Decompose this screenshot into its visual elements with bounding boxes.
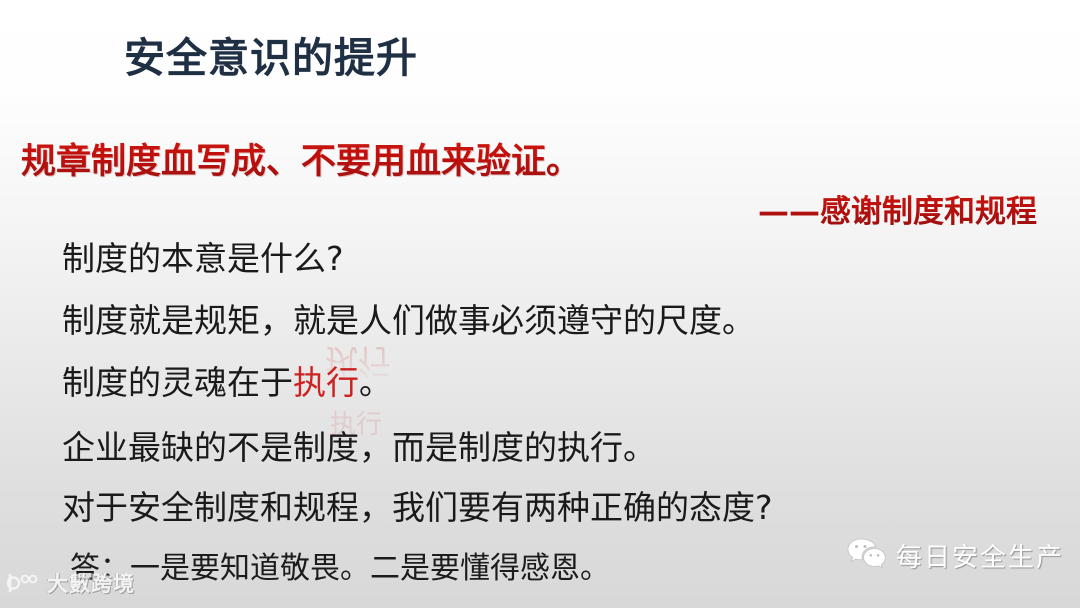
presentation-slide: 安全意识的提升 规章制度血写成、不要用血来验证。 规章制度血写成、不要用血来验证… [0,0,1080,608]
quote-attribution: ——感谢制度和规程 [758,186,1037,231]
page-title: 安全意识的提升 [124,24,418,84]
body-line-2: 制度就是规矩，就是人们做事必须遵守的尺度。 [62,294,755,342]
watermark-right: 每日安全生产 [846,536,1064,574]
red-quote-heading: 规章制度血写成、不要用血来验证。 [21,133,581,184]
body-line-1: 制度的本意是什么? [62,232,344,280]
body-line-5: 对于安全制度和规程，我们要有两种正确的态度? [62,481,773,529]
watermark-left: 大數跨境 [6,568,135,598]
hundred-logo-icon [6,572,40,594]
watermark-left-label: 大數跨境 [47,568,135,598]
watermark-right-label: 每日安全生产 [896,537,1064,574]
body-line-3-prefix: 制度的灵魂在于 [62,363,293,402]
wechat-icon [846,536,886,574]
answer-line: 答：一是要知道敬畏。二是要懂得感恩。 [70,543,610,587]
body-line-4: 企业最缺的不是制度，而是制度的执行。 [62,421,656,469]
highlight-reflection: 执行 [325,340,391,388]
